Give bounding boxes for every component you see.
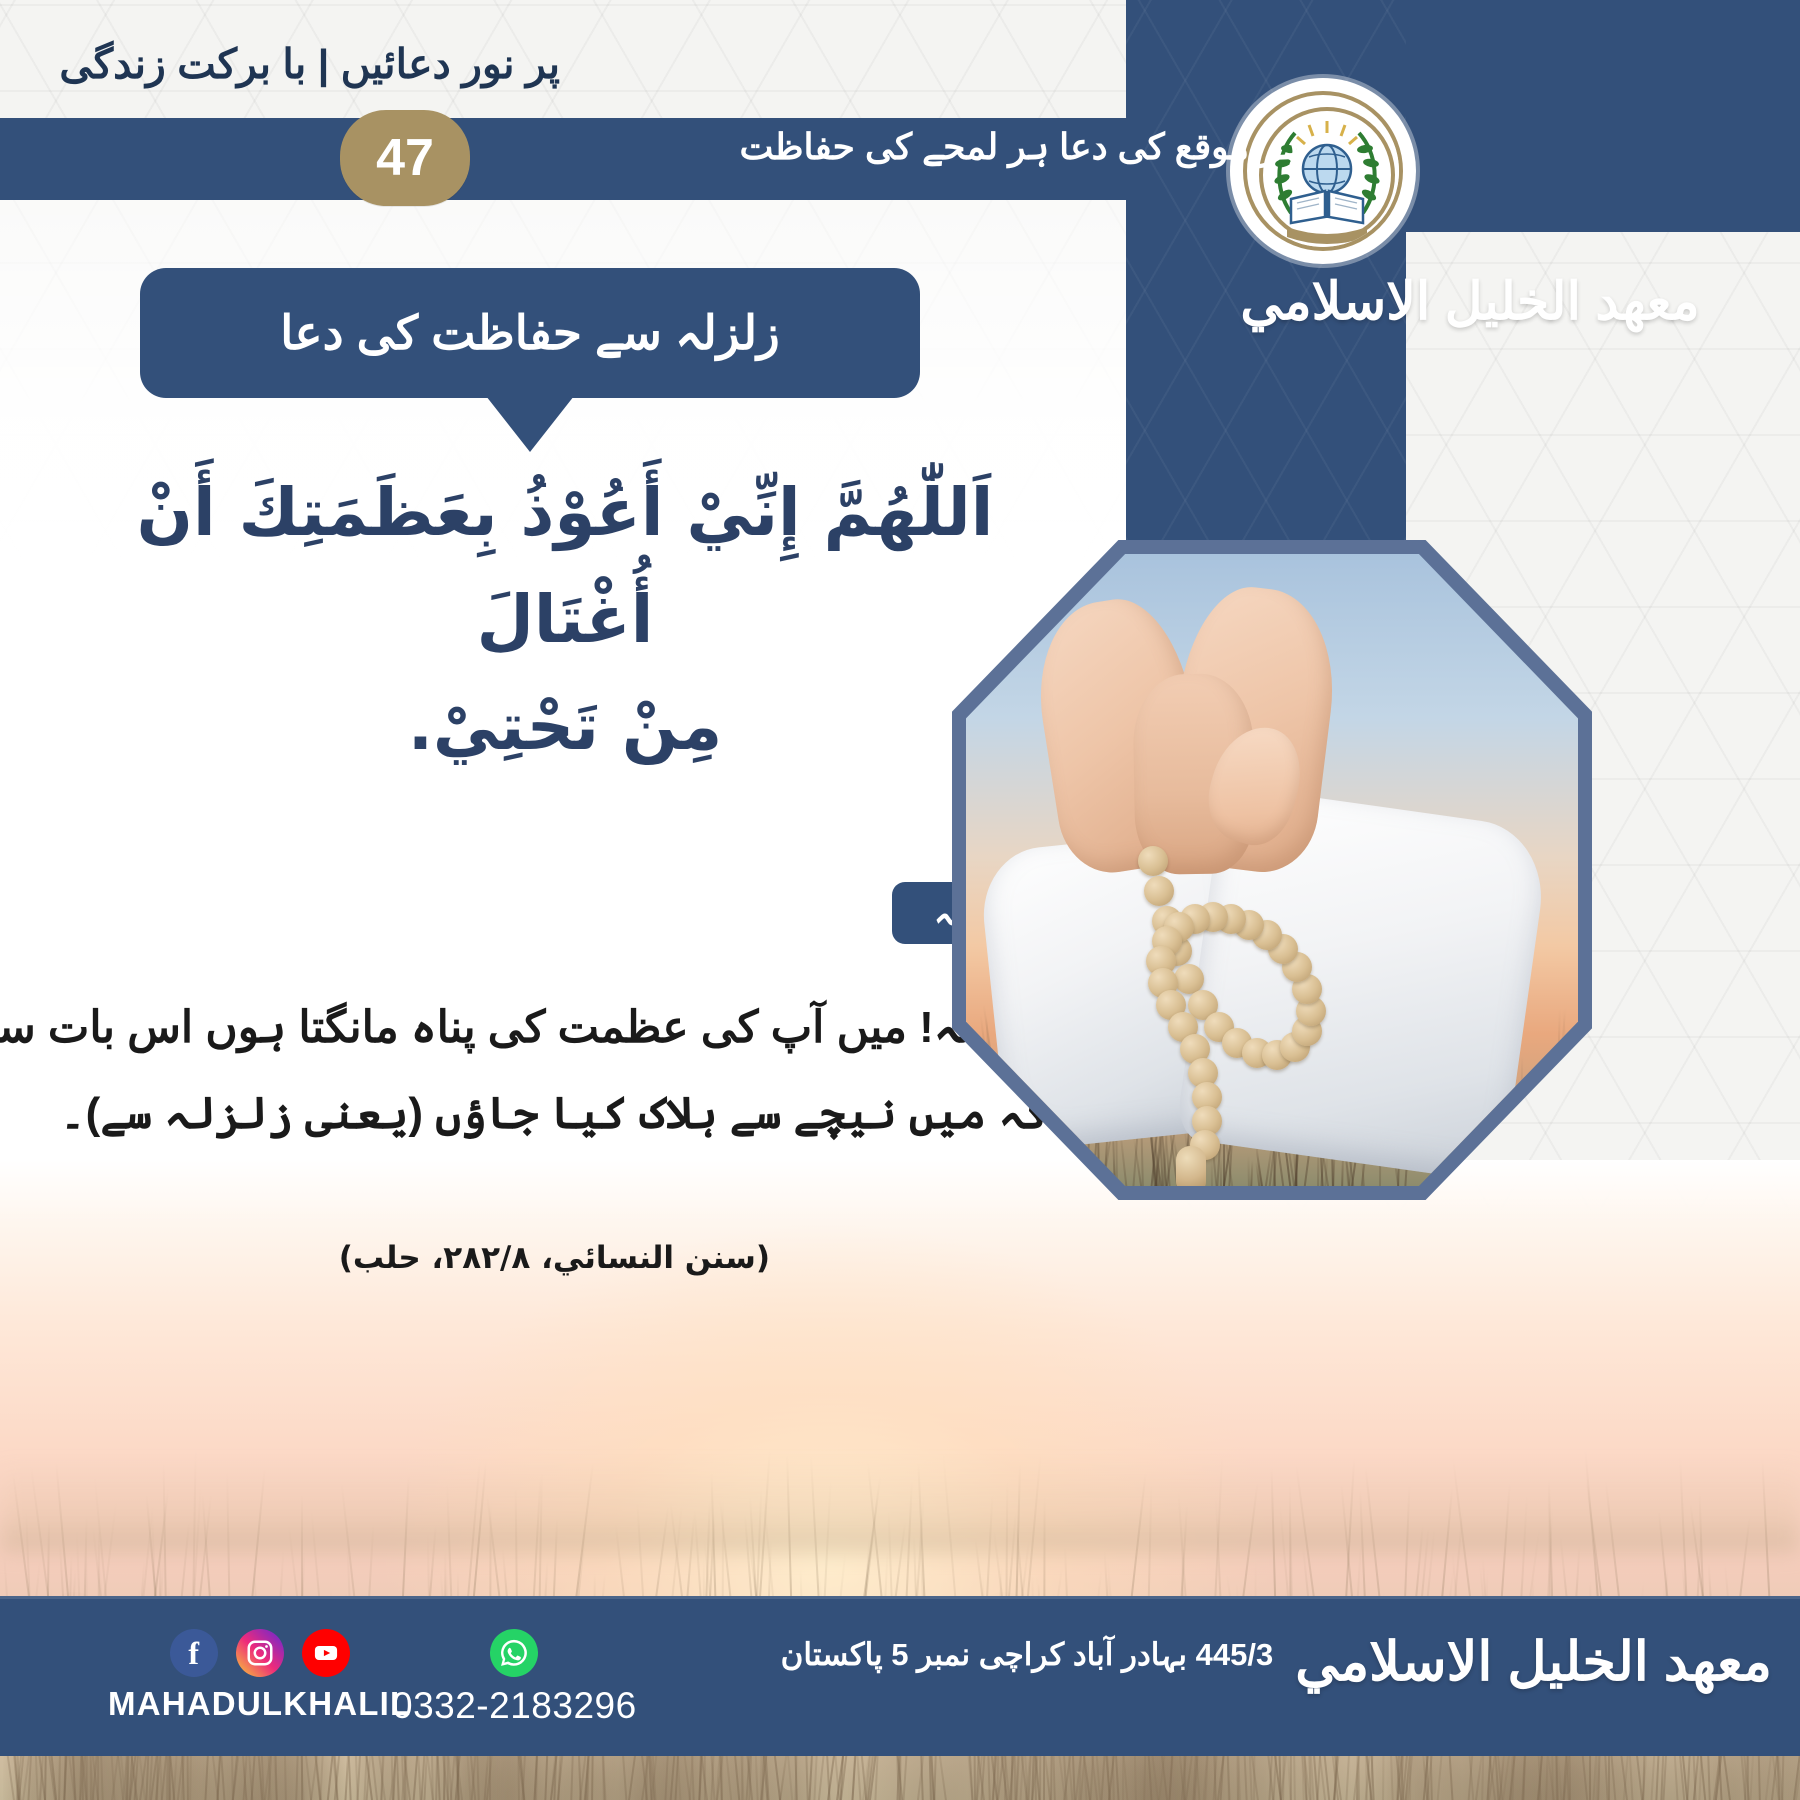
whatsapp-number: 0332-2183296 — [392, 1685, 637, 1727]
dua-title-text: زلزلہ سے حفاظت کی دعا — [280, 305, 780, 361]
praying-hands-photo-frame — [952, 540, 1592, 1200]
series-title: پر نور دعائیں | با برکت زندگی — [59, 40, 560, 88]
arabic-dua-line-1: اَللّٰهُمَّ إِنِّيْ أَعُوْذُ بِعَظَمَتِك… — [60, 460, 1070, 674]
praying-hands-photo — [966, 554, 1578, 1186]
whatsapp-group[interactable]: 0332-2183296 — [392, 1629, 637, 1727]
social-handle-label: MAHADULKHALIL — [108, 1685, 411, 1723]
footer-institute-group: معهد الخليل الاسلامي 445/3 بہادر آباد کر… — [781, 1626, 1772, 1689]
logo-seal-svg — [1247, 95, 1403, 251]
urdu-translation-block: اے اللہ! میں آپ کی عظمت کی پناہ مانگتا ہ… — [120, 985, 1050, 1157]
footer-address: 445/3 بہادر آباد کراچی نمبر 5 پاکستان — [781, 1637, 1274, 1673]
institute-name-arabic: معهد الخليل الاسلامي — [1130, 272, 1800, 332]
instagram-icon[interactable] — [236, 1629, 284, 1677]
footer-divider — [0, 1596, 1800, 1599]
dua-title-pill: زلزلہ سے حفاظت کی دعا — [140, 268, 920, 398]
institute-seal-logo — [1230, 78, 1416, 264]
top-right-blue-fill — [1406, 0, 1800, 232]
dua-number-badge: 47 — [340, 110, 470, 206]
poster-canvas: معهد الخليل الاسلامي پر نور دعائیں | با … — [0, 0, 1800, 1800]
praying-hands-illustration — [966, 554, 1578, 1186]
header-subtitle: ہر موقع کی دعا ہر لمحے کی حفاظت — [740, 126, 1301, 168]
logo-seal-inner — [1243, 91, 1403, 251]
youtube-icon[interactable] — [302, 1629, 350, 1677]
translation-line-2: کہ میں نیچے سے ہلاک کیا جاؤں (یعنی زلزلہ… — [120, 1071, 1050, 1157]
whatsapp-icon[interactable] — [490, 1629, 538, 1677]
social-links-group[interactable]: f MAHADULKHALIL — [108, 1629, 411, 1723]
arabic-dua-line-2: مِنْ تَحْتِيْ. — [60, 674, 1070, 781]
social-icon-row[interactable]: f — [170, 1629, 350, 1677]
arabic-dua-block: اَللّٰهُمَّ إِنِّيْ أَعُوْذُ بِعَظَمَتِك… — [60, 460, 1070, 781]
hadith-reference: (سنن النسائي، ٢٨٢/٨، حلب) — [339, 1240, 770, 1276]
facebook-icon[interactable]: f — [170, 1629, 218, 1677]
dua-title-pointer — [486, 396, 574, 452]
translation-line-1: اے اللہ! میں آپ کی عظمت کی پناہ مانگتا ہ… — [120, 985, 1050, 1071]
footer-institute-name: معهد الخليل الاسلامي — [1295, 1630, 1772, 1693]
